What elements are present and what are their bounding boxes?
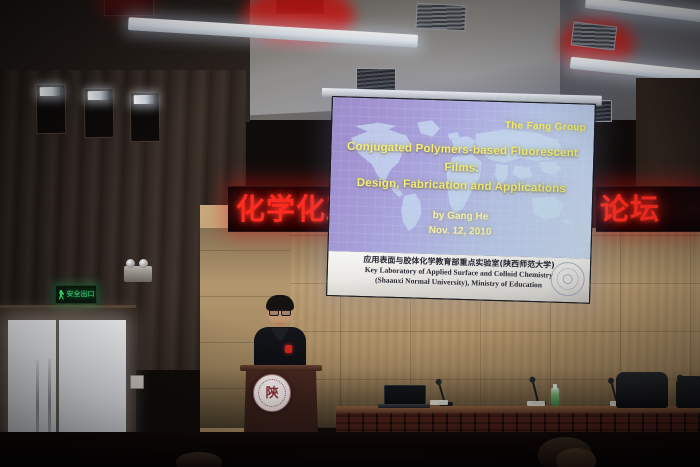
exit-sign-label: 安全出口 [67,291,95,298]
water-bottle [551,388,559,406]
office-chair [676,376,700,408]
eyeglasses-icon [269,308,291,314]
running-man-icon [58,290,65,300]
slide-title-line1: Conjugated Polymers-based Fluorescent Fi… [347,141,578,175]
document-paper [430,400,448,405]
lectern-top [240,365,322,371]
office-chair [616,372,668,408]
projection-screen: The Fang Group Conjugated Polymers-based… [326,96,596,304]
hvac-vent [571,21,618,50]
slide-background: The Fang Group Conjugated Polymers-based… [328,97,594,259]
university-emblem-char: 陝 [265,387,278,400]
emergency-exit-sign: 安全出口 [55,285,97,304]
wall-outlet [130,375,144,389]
recessed-spotlight [36,84,67,135]
led-banner-right: 论坛 [596,186,700,232]
university-emblem: 陝 [253,374,291,412]
recessed-spotlight [84,88,115,139]
laptop-base [378,404,430,408]
hvac-vent [415,3,466,32]
document-paper [527,401,545,406]
led-banner-right-text: 论坛 [600,195,660,224]
lecture-hall-photo: 安全出口 化学化工 论坛 Fang Group [0,0,700,467]
speaker-badge [285,345,292,353]
recessed-spotlight [130,92,161,143]
laboratory-seal-icon [550,262,585,297]
emergency-light-fixture [124,266,152,282]
slide-title: Conjugated Polymers-based Fluorescent Fi… [330,138,593,199]
audience-member [556,448,596,467]
slide-footer: 应用表面与胶体化学教育部重点实验室(陕西师范大学) Key Laboratory… [327,251,590,302]
audience-member [176,452,222,467]
